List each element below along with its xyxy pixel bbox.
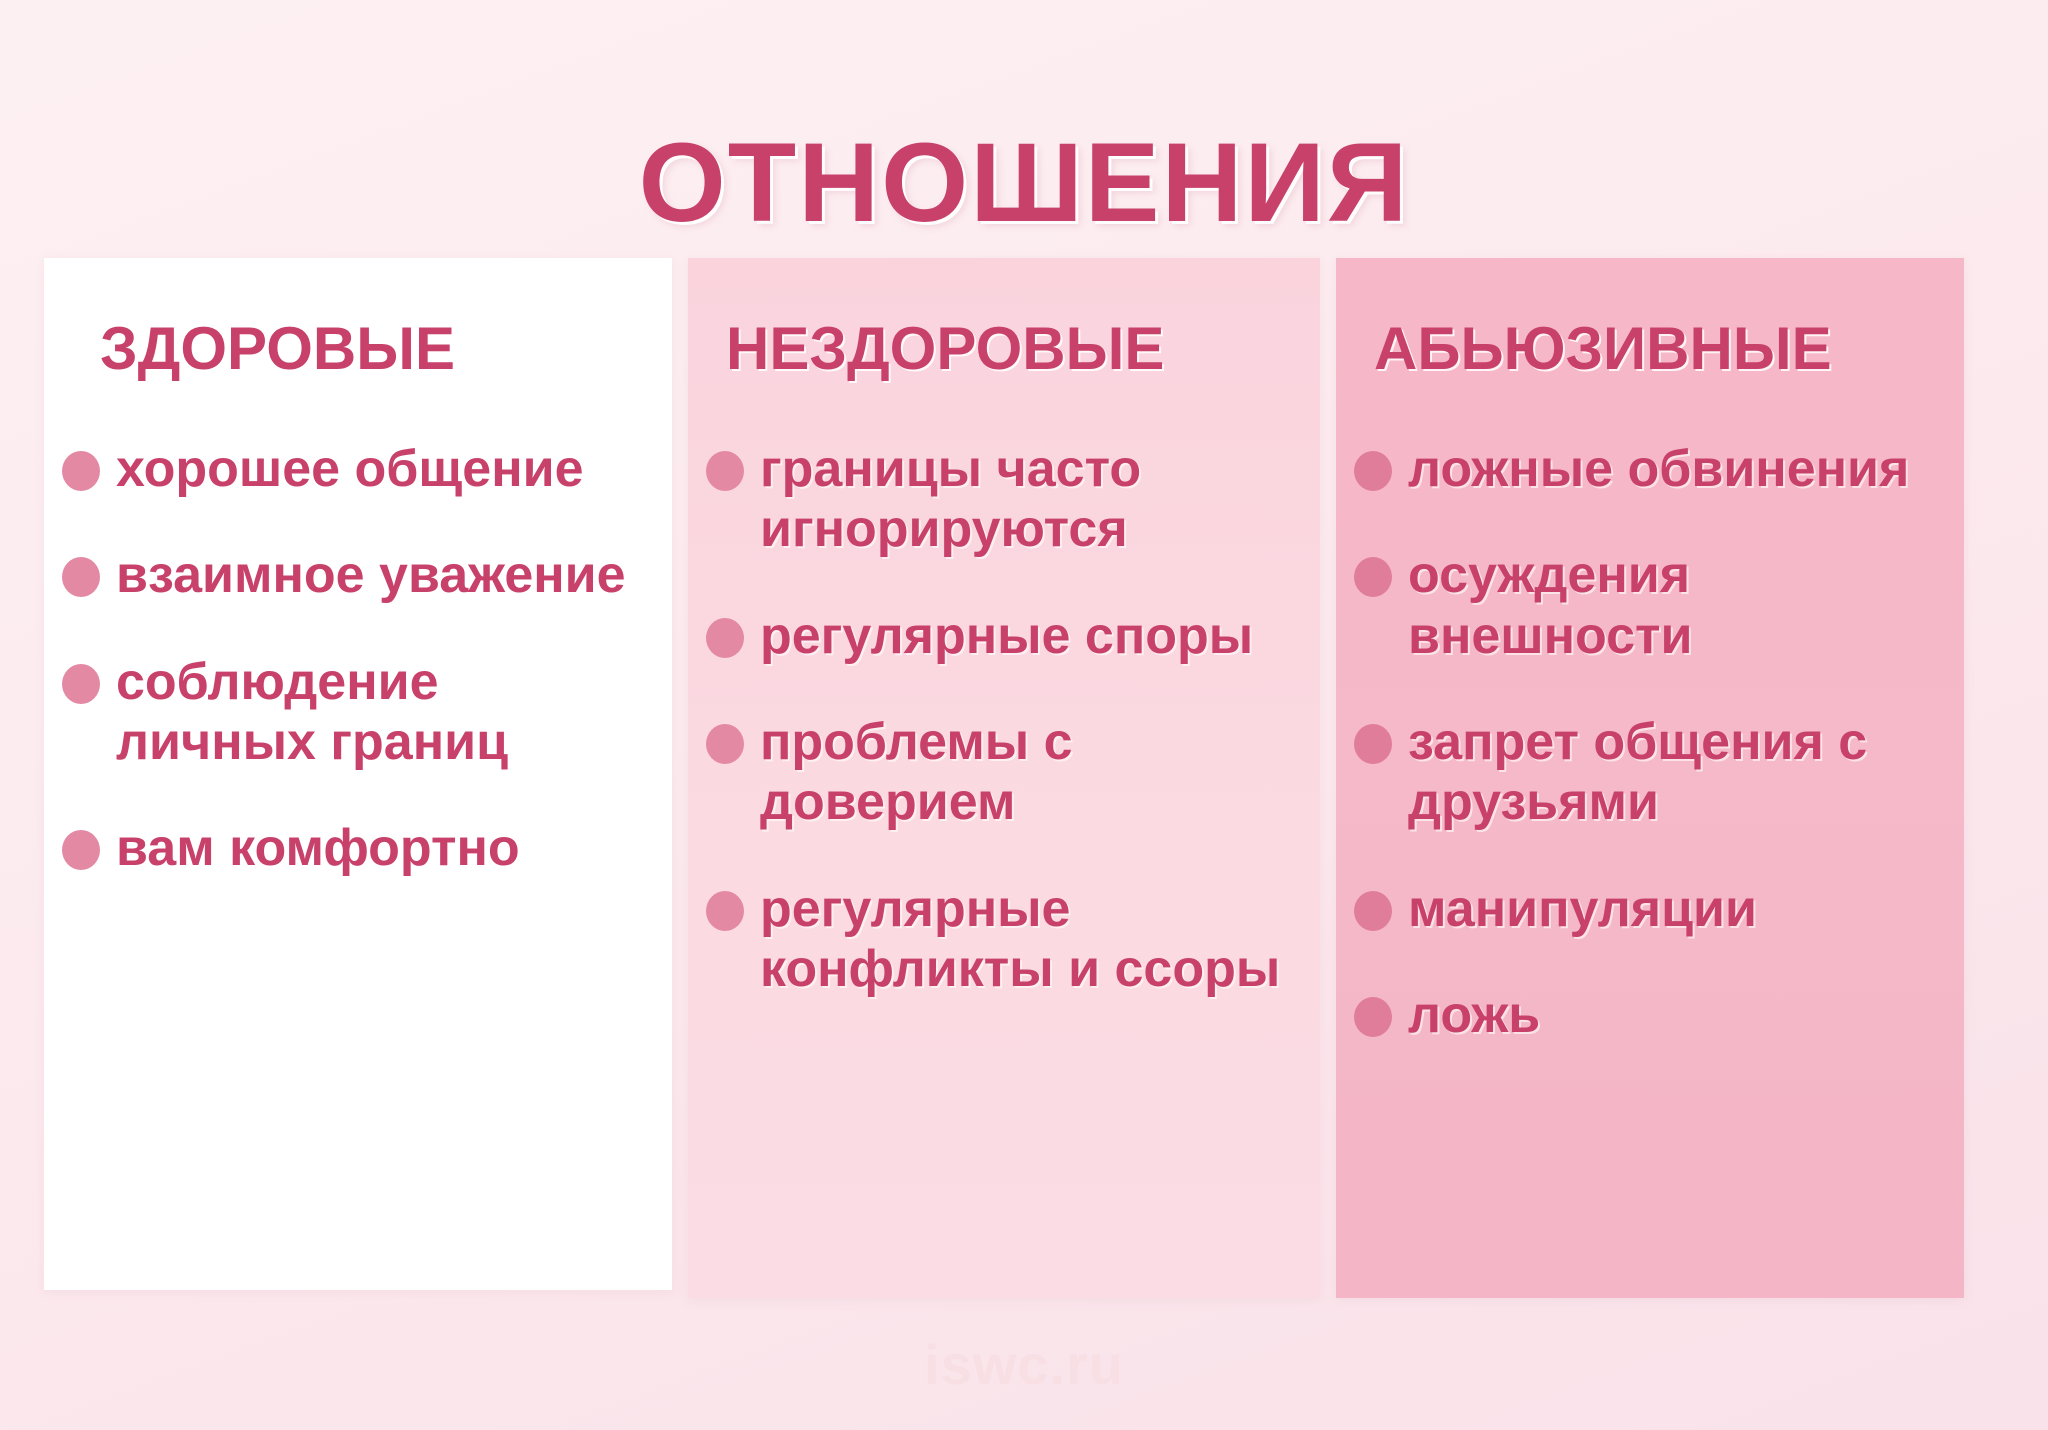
list-item-label: запрет общения с друзьями — [1408, 712, 1930, 833]
column-header-unhealthy: НЕЗДОРОВЫЕ — [706, 314, 1286, 383]
bullet-list-abusive: ложные обвинения осуждения внешности зап… — [1354, 439, 1930, 1045]
list-item: осуждения внешности — [1354, 545, 1930, 666]
list-item-label: соблюдение личных границ — [116, 652, 636, 773]
list-item: регулярные споры — [706, 606, 1286, 666]
list-item: взаимное уважение — [62, 545, 638, 605]
list-item: ложные обвинения — [1354, 439, 1930, 499]
column-abusive: АБЬЮЗИВНЫЕ ложные обвинения осуждения вн… — [1336, 258, 1964, 1298]
list-item: ложь — [1354, 985, 1930, 1045]
columns-container: ЗДОРОВЫЕ хорошее общение взаимное уважен… — [44, 258, 2010, 1298]
bullet-dot-icon — [1354, 724, 1392, 764]
bullet-list-healthy: хорошее общение взаимное уважение соблюд… — [62, 439, 638, 879]
list-item-label: хорошее общение — [116, 439, 584, 499]
column-header-abusive: АБЬЮЗИВНЫЕ — [1354, 314, 1930, 383]
column-header-healthy: ЗДОРОВЫЕ — [62, 314, 638, 383]
list-item-label: взаимное уважение — [116, 545, 626, 605]
bullet-dot-icon — [706, 724, 744, 764]
bullet-dot-icon — [1354, 557, 1392, 597]
list-item: границы часто игнорируются — [706, 439, 1286, 560]
list-item-label: регулярные споры — [760, 606, 1253, 666]
list-item: хорошее общение — [62, 439, 638, 499]
bullet-dot-icon — [62, 830, 100, 870]
list-item-label: границы часто игнорируются — [760, 439, 1286, 560]
bullet-dot-icon — [706, 891, 744, 931]
bullet-dot-icon — [706, 451, 744, 491]
list-item: запрет общения с друзьями — [1354, 712, 1930, 833]
bullet-dot-icon — [62, 451, 100, 491]
list-item-label: ложь — [1408, 985, 1540, 1045]
column-healthy: ЗДОРОВЫЕ хорошее общение взаимное уважен… — [44, 258, 672, 1290]
list-item-label: проблемы с доверием — [760, 712, 1286, 833]
list-item: регулярные конфликты и ссоры — [706, 879, 1286, 1000]
list-item-label: осуждения внешности — [1408, 545, 1930, 666]
infographic-poster: ОТНОШЕНИЯ ЗДОРОВЫЕ хорошее общение взаим… — [0, 0, 2048, 1430]
list-item: вам комфортно — [62, 818, 638, 878]
list-item-label: регулярные конфликты и ссоры — [760, 879, 1286, 1000]
list-item-label: ложные обвинения — [1408, 439, 1909, 499]
bullet-dot-icon — [1354, 997, 1392, 1037]
bullet-dot-icon — [1354, 451, 1392, 491]
watermark: iswc.ru — [0, 1332, 2048, 1397]
column-unhealthy: НЕЗДОРОВЫЕ границы часто игнорируются ре… — [688, 258, 1320, 1298]
list-item: манипуляции — [1354, 879, 1930, 939]
bullet-dot-icon — [706, 618, 744, 658]
list-item: соблюдение личных границ — [62, 652, 638, 773]
bullet-list-unhealthy: границы часто игнорируются регулярные сп… — [706, 439, 1286, 999]
bullet-dot-icon — [62, 557, 100, 597]
list-item-label: вам комфортно — [116, 818, 520, 878]
list-item: проблемы с доверием — [706, 712, 1286, 833]
list-item-label: манипуляции — [1408, 879, 1757, 939]
bullet-dot-icon — [62, 664, 100, 704]
page-title: ОТНОШЕНИЯ — [639, 127, 1410, 239]
bullet-dot-icon — [1354, 891, 1392, 931]
